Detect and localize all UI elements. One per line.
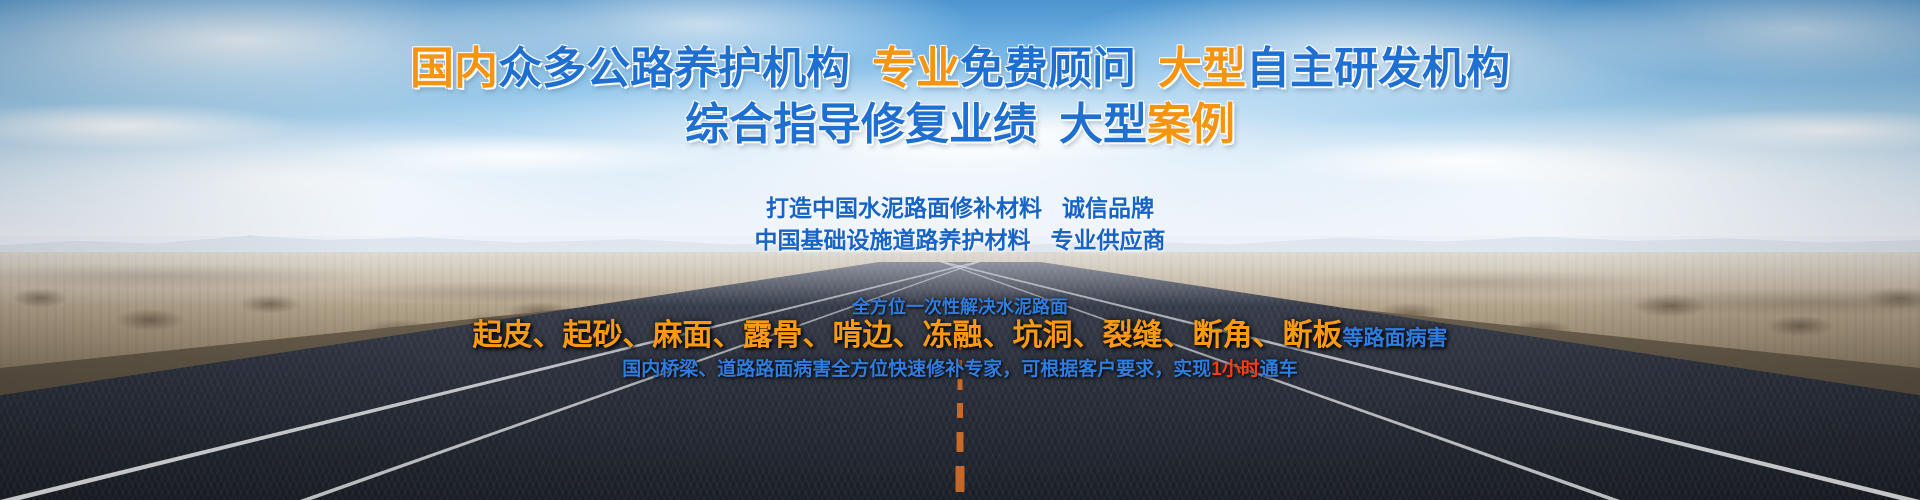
subhead-1-main: 打造中国水泥路面修补材料 — [766, 195, 1042, 221]
promo-banner: 国内众多公路养护机构专业免费顾问大型自主研发机构 综合指导修复业绩大型案例 打造… — [0, 0, 1920, 500]
subhead-line-1: 打造中国水泥路面修补材料诚信品牌 — [0, 194, 1920, 222]
headline-line-2: 综合指导修复业绩大型案例 — [0, 100, 1920, 150]
bottom-intro-line: 全方位一次性解决水泥路面 — [0, 296, 1920, 318]
headline-seg-guidance-record: 综合指导修复业绩 — [685, 100, 1037, 149]
subhead-2-main: 中国基础设施道路养护材料 — [755, 227, 1031, 253]
headline-seg-case-studies: 案例 — [1147, 100, 1235, 149]
closing-text-post: 通车 — [1260, 359, 1298, 380]
headline-seg-professional: 专业 — [872, 44, 960, 93]
closing-text-pre: 国内桥梁、道路路面病害全方位快速修补专家，可根据客户要求，实现 — [622, 359, 1211, 380]
subhead-1-tag: 诚信品牌 — [1062, 195, 1154, 221]
subhead-line-2: 中国基础设施道路养护材料专业供应商 — [0, 226, 1920, 254]
headline-seg-large-2: 大型 — [1059, 100, 1147, 149]
banner-text-stack: 国内众多公路养护机构专业免费顾问大型自主研发机构 综合指导修复业绩大型案例 打造… — [0, 0, 1920, 500]
bottom-damage-line: 起皮、起砂、麻面、露骨、啃边、冻融、坑洞、裂缝、断角、断板等路面病害 — [0, 318, 1920, 357]
headline-seg-free-consult: 免费顾问 — [960, 44, 1136, 93]
bottom-closing-line: 国内桥梁、道路路面病害全方位快速修补专家，可根据客户要求，实现1小时通车 — [0, 358, 1920, 382]
headline-seg-many-agencies: 众多公路养护机构 — [498, 44, 850, 93]
subhead-2-tag: 专业供应商 — [1051, 227, 1166, 253]
headline-seg-domestic: 国内 — [410, 44, 498, 93]
damage-type-list: 起皮、起砂、麻面、露骨、啃边、冻融、坑洞、裂缝、断角、断板 — [473, 319, 1343, 352]
damage-list-tail: 等路面病害 — [1343, 327, 1448, 350]
headline-seg-large-scale: 大型 — [1158, 44, 1246, 93]
headline-line-1: 国内众多公路养护机构专业免费顾问大型自主研发机构 — [0, 44, 1920, 94]
closing-highlight-1hour: 1小时 — [1211, 359, 1260, 380]
headline-seg-rnd-institute: 自主研发机构 — [1246, 44, 1510, 93]
